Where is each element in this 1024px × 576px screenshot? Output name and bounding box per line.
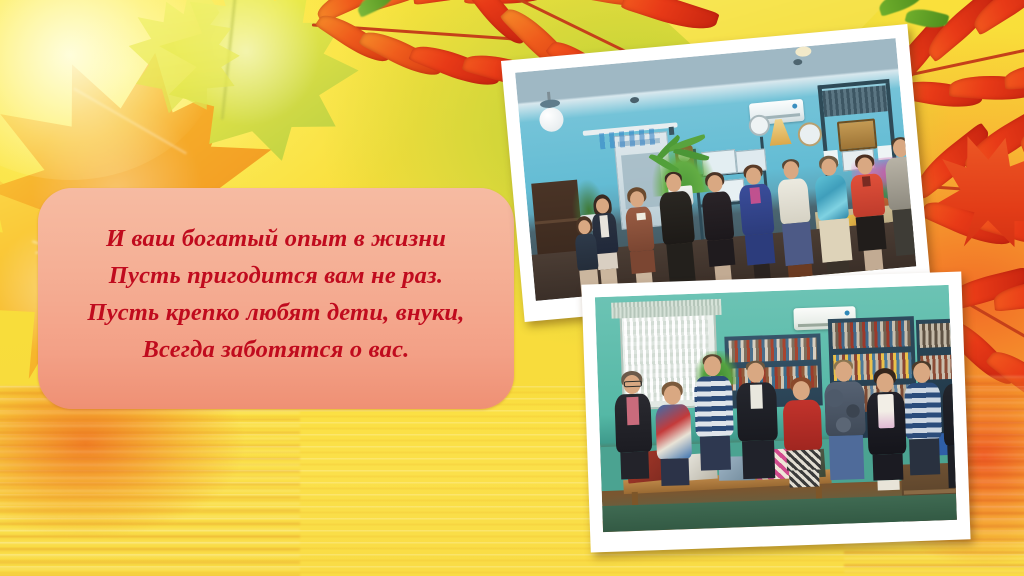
curtain-rail-bracket (669, 127, 675, 135)
ceiling-spot (795, 46, 812, 57)
necklace (862, 176, 871, 187)
scarf (877, 394, 894, 429)
photo-image-blue-room (515, 38, 916, 301)
floor (602, 494, 957, 532)
book-row (919, 323, 954, 348)
person (613, 370, 653, 479)
person (823, 359, 867, 480)
book-row (728, 338, 817, 363)
book-row (832, 320, 911, 349)
person (654, 381, 694, 486)
quote-line-1: И ваш богатый опыт в жизни (38, 220, 514, 257)
scarf (749, 187, 760, 204)
quote-panel: И ваш богатый опыт в жизни Пусть пригоди… (38, 188, 514, 409)
shirt-collar (750, 384, 763, 408)
photo-scene-library (595, 285, 957, 532)
chair-back (733, 530, 796, 532)
quote-line-3: Пусть крепко любят дети, внуки, (38, 294, 514, 331)
wall-clock-icon (797, 121, 823, 147)
glasses (624, 381, 642, 388)
scarf (626, 397, 639, 425)
badge (636, 213, 646, 221)
ceiling-lamp-globe (538, 107, 564, 133)
person (735, 360, 779, 479)
group-photo-library[interactable] (581, 271, 970, 552)
framed-picture (837, 118, 878, 151)
book-row (822, 85, 888, 117)
ceiling-smoke-detector (630, 97, 640, 104)
chair-back (651, 531, 714, 532)
ceiling-fixture (540, 99, 561, 109)
person (866, 368, 908, 491)
person (782, 376, 824, 487)
photo-image-library (595, 285, 957, 532)
person (693, 354, 735, 471)
quote-line-2: Пусть пригодится вам не раз. (38, 257, 514, 294)
quote-line-4: Всегда заботятся о вас. (38, 331, 514, 368)
slide-canvas: И ваш богатый опыт в жизни Пусть пригоди… (0, 0, 1024, 576)
shirt-collar (955, 385, 957, 397)
water-reflection-orange (0, 386, 300, 576)
quote-text: И ваш богатый опыт в жизни Пусть пригоди… (38, 220, 514, 368)
person (903, 360, 943, 475)
photo-scene-blue-room (515, 38, 916, 301)
ceiling-spot (793, 59, 803, 66)
